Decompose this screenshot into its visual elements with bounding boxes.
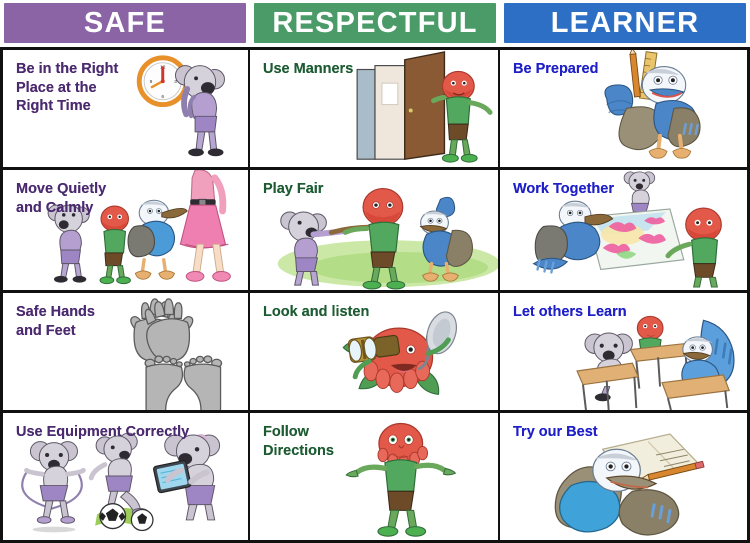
- cell-safe-row4: Use Equipment Correctly: [0, 410, 250, 543]
- cell-safe-row1: Be in the Right Place at the Right Time …: [0, 47, 250, 167]
- cell-respectful-row2: Play Fair: [250, 167, 500, 290]
- header-label-safe: SAFE: [84, 9, 166, 38]
- cell-label-safe-hands-and-feet: Safe Hands and Feet: [16, 303, 95, 340]
- svg-text:6: 6: [161, 94, 164, 100]
- svg-text:9: 9: [150, 79, 153, 85]
- cell-label-play-fair: Play Fair: [263, 180, 323, 199]
- cell-label-let-others-learn: Let others Learn: [513, 303, 627, 322]
- behaviour-expectations-matrix: SAFE RESPECTFUL LEARNER Be in the Right …: [0, 0, 750, 543]
- cell-label-be-prepared: Be Prepared: [513, 60, 598, 79]
- header-label-learner: LEARNER: [551, 9, 700, 38]
- header-label-respectful: RESPECTFUL: [272, 9, 477, 38]
- cell-label-use-equipment-correctly: Use Equipment Correctly: [16, 423, 189, 442]
- cell-safe-row3: Safe Hands and Feet: [0, 290, 250, 410]
- header-cell-respectful: RESPECTFUL: [250, 0, 500, 47]
- cell-label-follow-directions: Follow Directions: [263, 423, 334, 460]
- header-cell-learner: LEARNER: [500, 0, 750, 47]
- cell-learner-row4: Try our Best: [500, 410, 750, 543]
- cell-respectful-row1: Use Manners: [250, 47, 500, 167]
- cell-label-be-in-the-right-place-at-the-right-time: Be in the Right Place at the Right Time: [16, 60, 118, 116]
- cell-label-try-our-best: Try our Best: [513, 423, 598, 442]
- header-cell-safe: SAFE: [0, 0, 250, 47]
- cell-label-use-manners: Use Manners: [263, 60, 353, 79]
- cell-safe-row2: Move Quietly and Calmly: [0, 167, 250, 290]
- cell-respectful-row4: Follow Directions: [250, 410, 500, 543]
- header-band-respectful: RESPECTFUL: [254, 3, 496, 43]
- cell-learner-row2: Work Together: [500, 167, 750, 290]
- cell-learner-row1: Be Prepared: [500, 47, 750, 167]
- cell-learner-row3: Let others Learn: [500, 290, 750, 410]
- cell-label-work-together: Work Together: [513, 180, 614, 199]
- cell-label-look-and-listen: Look and listen: [263, 303, 369, 322]
- header-band-safe: SAFE: [4, 3, 246, 43]
- cell-respectful-row3: Look and listen: [250, 290, 500, 410]
- header-band-learner: LEARNER: [504, 3, 746, 43]
- cell-label-move-quietly-and-calmly: Move Quietly and Calmly: [16, 180, 106, 217]
